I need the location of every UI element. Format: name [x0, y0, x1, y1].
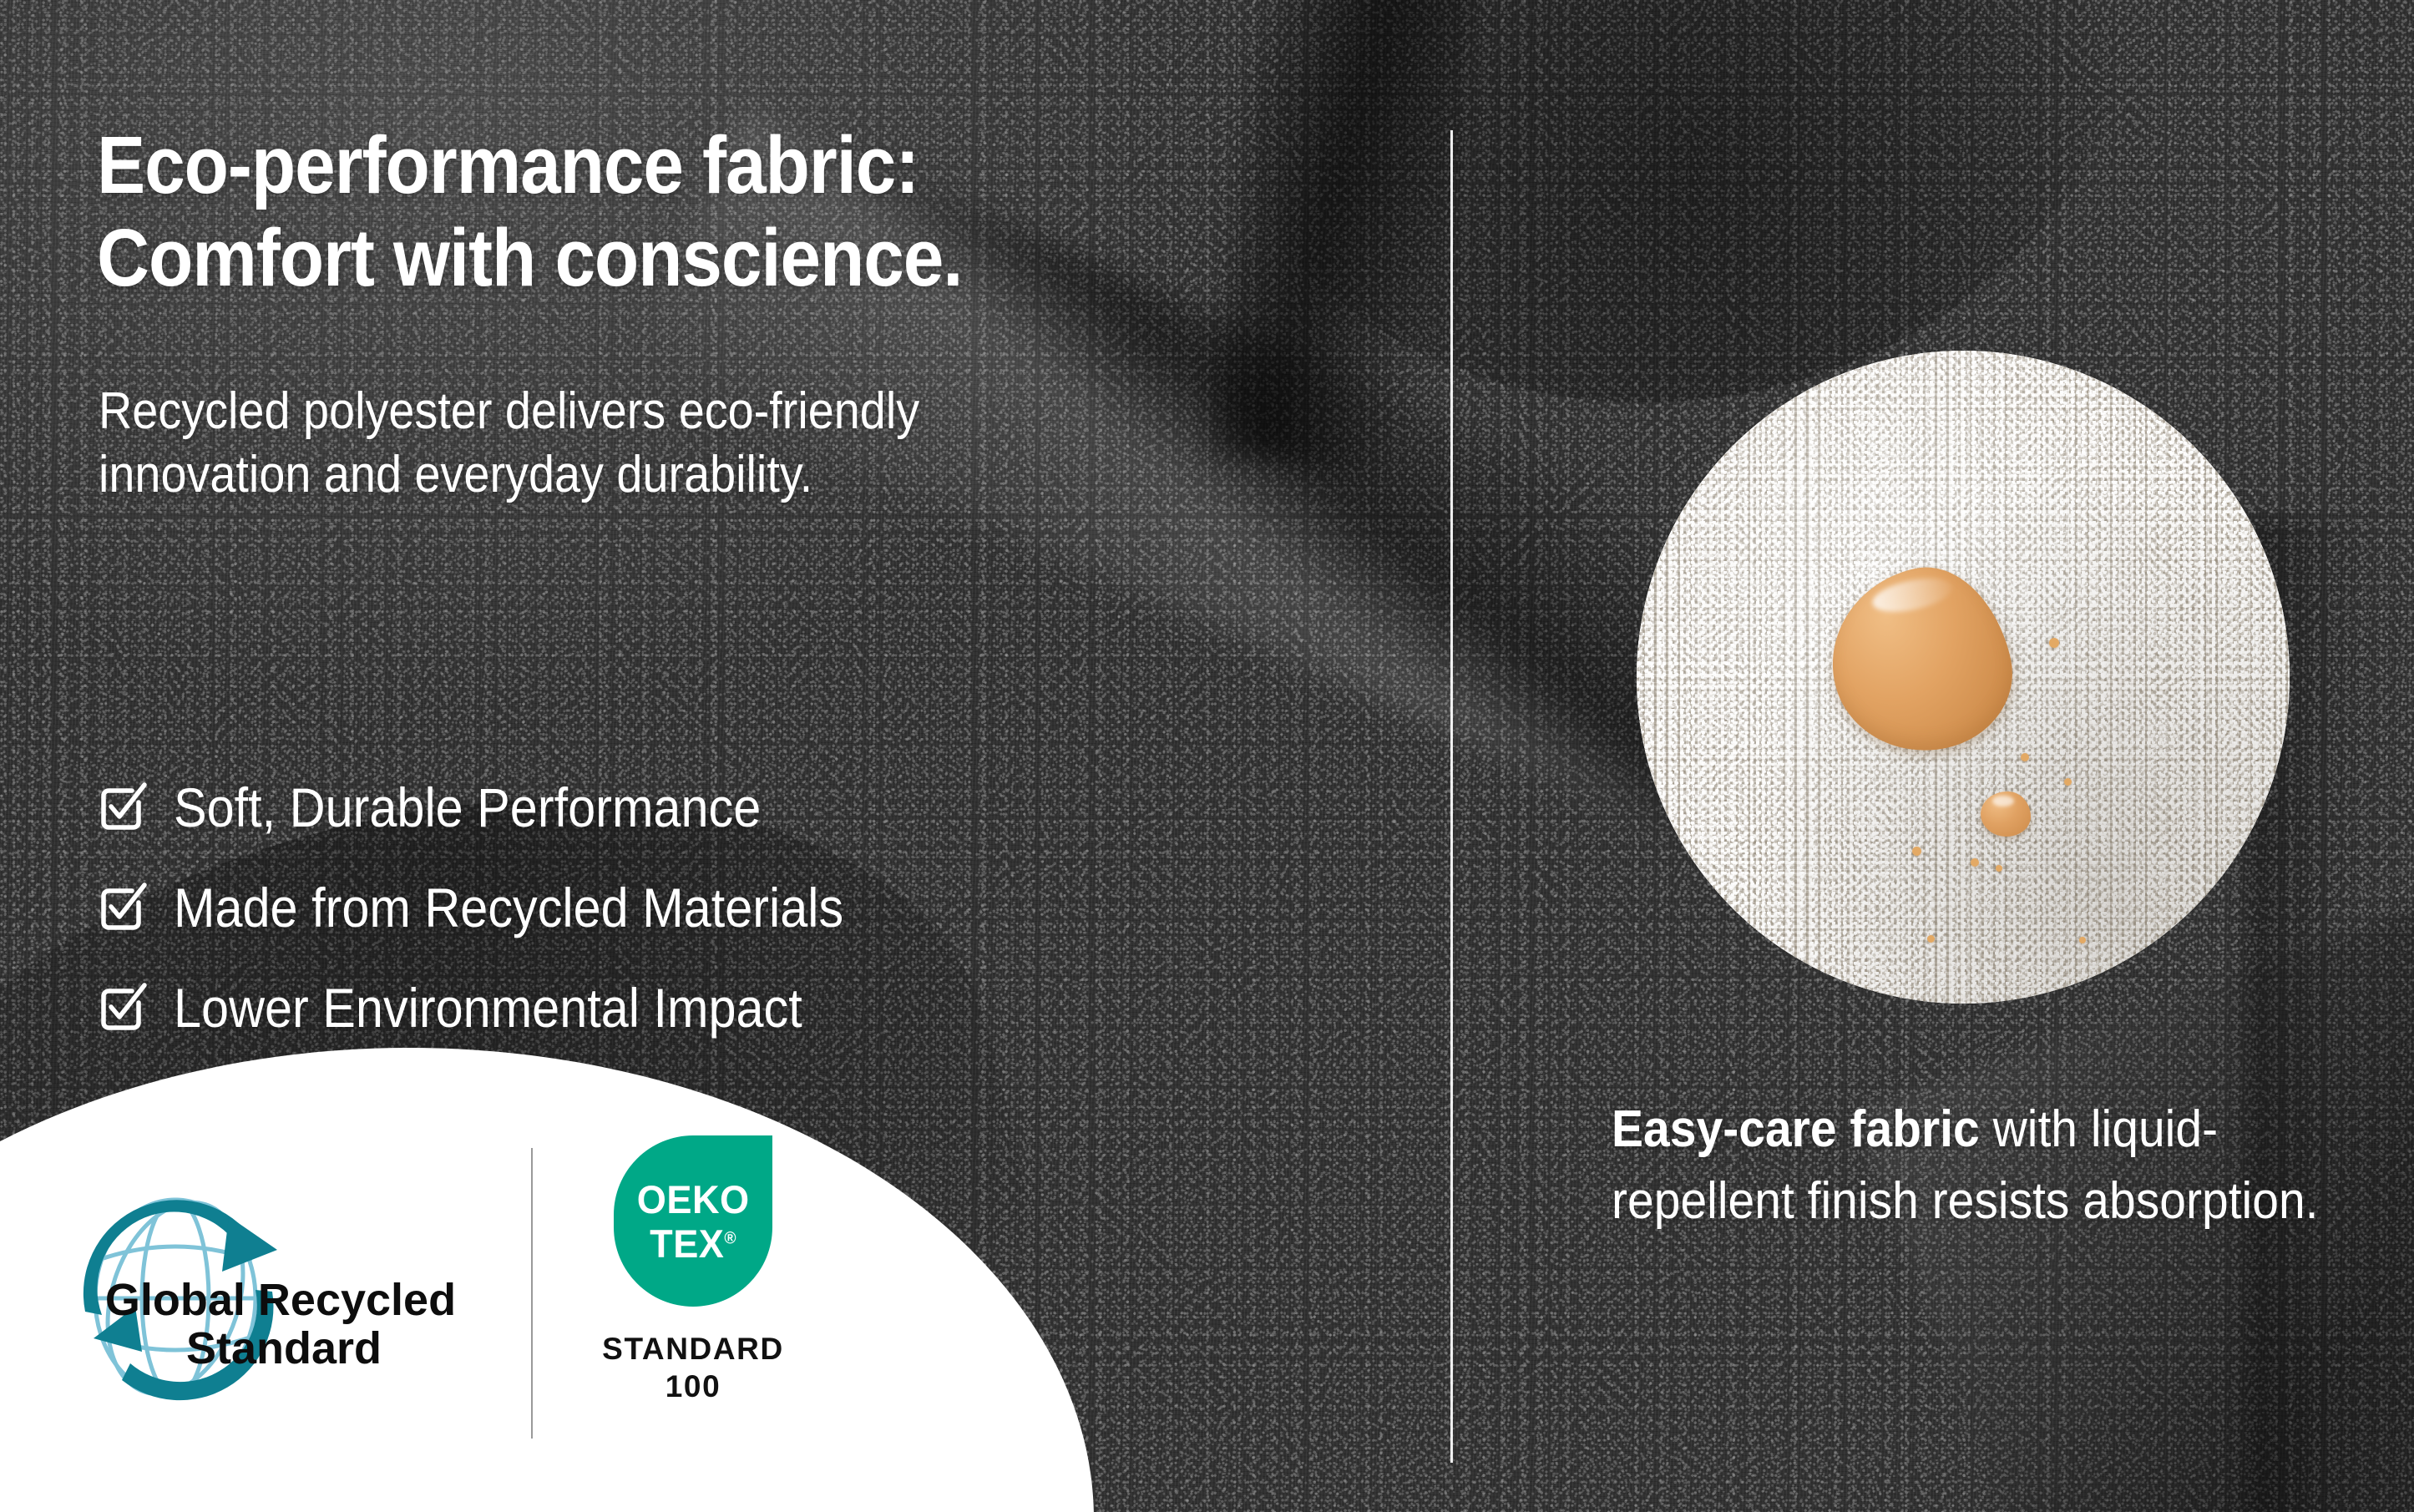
- globe-recycle-icon: Global Recycled Standard: [65, 1173, 499, 1415]
- subhead-line-2: innovation and everyday durability.: [99, 443, 1226, 507]
- oeko-standard-word: STANDARD: [602, 1332, 784, 1366]
- feature-label: Soft, Durable Performance: [174, 780, 761, 835]
- eco-performance-fabric-infographic: Eco-performance fabric: Comfort with con…: [0, 0, 2414, 1512]
- liquid-droplet: [2049, 638, 2059, 648]
- list-item: Soft, Durable Performance: [97, 772, 1308, 842]
- checkbox-checked-icon: [97, 884, 145, 933]
- subhead-line-1: Recycled polyester delivers eco-friendly: [99, 380, 1226, 443]
- liquid-droplet: [2064, 778, 2072, 786]
- headline-line-1: Eco-performance fabric:: [97, 119, 1299, 212]
- certification-badge: Global Recycled Standard OEKO TEX® STAND…: [0, 1048, 1094, 1512]
- oeko-standard-number: 100: [585, 1368, 802, 1405]
- feature-label: Lower Environmental Impact: [174, 980, 802, 1035]
- oeko-droplet-shape: OEKO TEX®: [614, 1135, 772, 1307]
- logo-separator: [531, 1148, 533, 1439]
- checkbox-checked-icon: [97, 984, 145, 1033]
- liquid-droplet: [1971, 858, 1979, 867]
- oeko-label-line-2: TEX®: [650, 1224, 736, 1263]
- liquid-droplet: [1912, 847, 1921, 856]
- caption-bold-text: Easy-care fabric: [1612, 1100, 1980, 1158]
- feature-label: Made from Recycled Materials: [174, 880, 843, 935]
- liquid-blob-small: [1981, 791, 2031, 837]
- page-subtitle: Recycled polyester delivers eco-friendly…: [99, 380, 1226, 506]
- grs-label-line-1: Global Recycled: [105, 1275, 456, 1325]
- oeko-label-line-1: OEKO: [637, 1180, 750, 1219]
- checkbox-checked-icon: [97, 784, 145, 832]
- oeko-tex-droplet-icon: OEKO TEX® STANDARD 100: [585, 1135, 802, 1461]
- list-item: Made from Recycled Materials: [97, 872, 1308, 943]
- liquid-droplet: [1927, 935, 1935, 943]
- headline-line-2: Comfort with conscience.: [97, 212, 1299, 305]
- grs-label-line-2: Standard: [186, 1323, 382, 1373]
- liquid-droplet: [2021, 753, 2029, 761]
- oeko-standard-label: STANDARD 100: [585, 1330, 802, 1405]
- list-item: Lower Environmental Impact: [97, 973, 1308, 1043]
- feature-checklist: Soft, Durable Performance Made from Recy…: [97, 772, 1308, 1073]
- liquid-droplet: [2079, 937, 2086, 943]
- page-title: Eco-performance fabric: Comfort with con…: [97, 119, 1299, 304]
- liquid-droplet: [1996, 865, 2002, 872]
- inset-caption: Easy-care fabric with liquid-repellent f…: [1612, 1094, 2326, 1236]
- registered-mark-icon: ®: [724, 1229, 736, 1247]
- liquid-repellent-fabric-swatch: [1637, 351, 2290, 1004]
- column-divider: [1450, 130, 1453, 1463]
